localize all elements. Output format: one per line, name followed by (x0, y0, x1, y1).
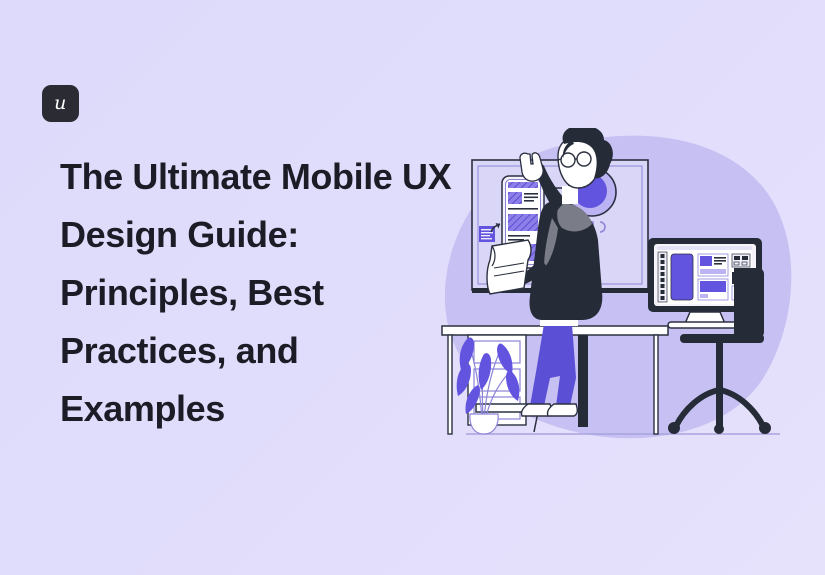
userpilot-logo[interactable]: u (42, 85, 79, 122)
hero-card: u The Ultimate Mobile UX Design Guide: P… (0, 0, 825, 575)
paper-sheets (487, 240, 531, 294)
page-title: The Ultimate Mobile UX Design Guide: Pri… (60, 148, 460, 438)
ux-designer-illustration (432, 128, 802, 458)
logo-glyph: u (54, 94, 67, 113)
